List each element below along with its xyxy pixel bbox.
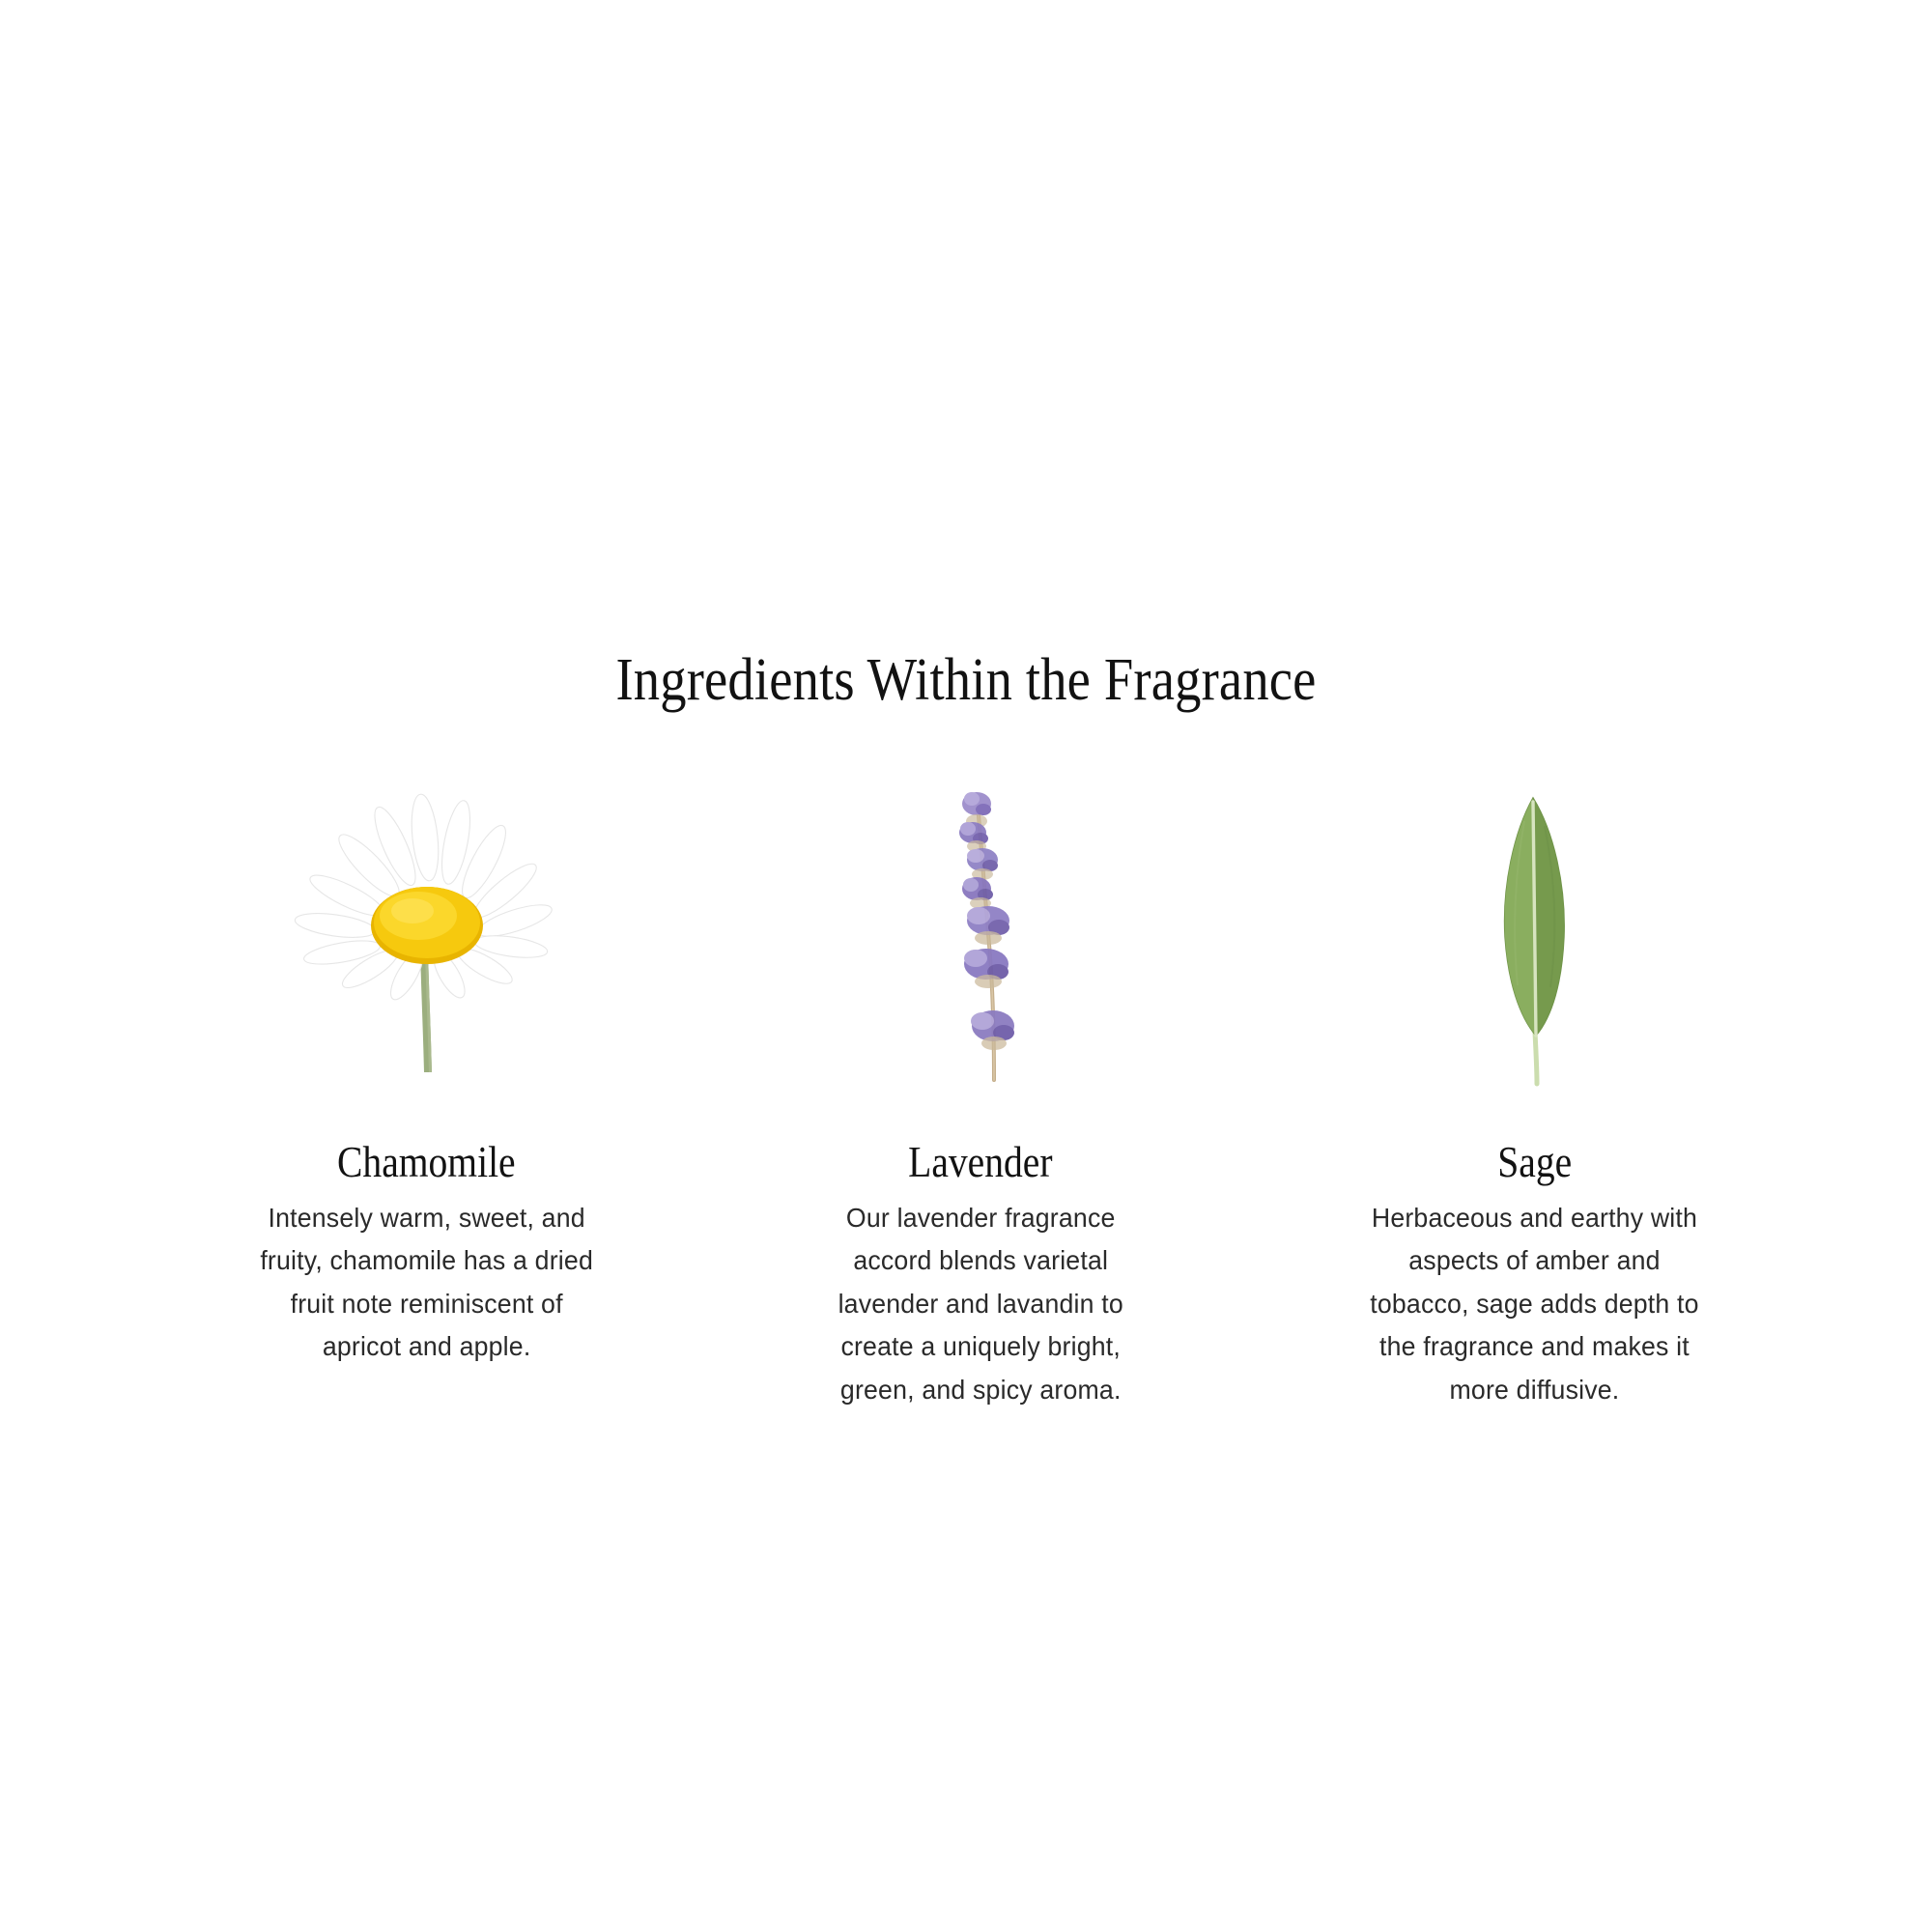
desc-line: fruit note reminiscent of — [260, 1283, 593, 1326]
desc-line: fruity, chamomile has a dried — [260, 1239, 593, 1283]
desc-line: create a uniquely bright, — [838, 1325, 1122, 1369]
ingredients-row: Chamomile Intensely warm, sweet, and fru… — [87, 782, 1845, 1411]
ingredient-card-chamomile: Chamomile Intensely warm, sweet, and fru… — [174, 782, 679, 1369]
ingredient-card-lavender: Lavender Our lavender fragrance accord b… — [727, 782, 1233, 1411]
sage-stem-group — [1535, 1032, 1537, 1084]
fragrance-ingredients-page: Ingredients Within the Fragrance — [0, 0, 1932, 1932]
ingredient-name-chamomile: Chamomile — [337, 1138, 516, 1187]
page-title: Ingredients Within the Fragrance — [116, 649, 1816, 712]
ingredient-description-chamomile: Intensely warm, sweet, and fruity, chamo… — [260, 1197, 593, 1369]
ingredient-description-sage: Herbaceous and earthy with aspects of am… — [1370, 1197, 1698, 1412]
sage-leaf-blade-group — [1505, 798, 1565, 1036]
chamomile-stem-group — [420, 949, 432, 1072]
desc-line: Herbaceous and earthy with — [1370, 1197, 1698, 1240]
desc-line: Intensely warm, sweet, and — [260, 1197, 593, 1240]
desc-line: more diffusive. — [1370, 1369, 1698, 1412]
desc-line: apricot and apple. — [260, 1325, 593, 1369]
ingredient-description-lavender: Our lavender fragrance accord blends var… — [838, 1197, 1122, 1412]
desc-line: green, and spicy aroma. — [838, 1369, 1122, 1412]
desc-line: tobacco, sage adds depth to — [1370, 1283, 1698, 1326]
sage-leaf-illustration — [1282, 782, 1787, 1101]
desc-line: lavender and lavandin to — [838, 1283, 1122, 1326]
lavender-florets-group — [959, 792, 1014, 1050]
ingredient-card-sage: Sage Herbaceous and earthy with aspects … — [1282, 782, 1787, 1411]
desc-line: accord blends varietal — [838, 1239, 1122, 1283]
chamomile-flower-illustration — [174, 782, 679, 1101]
desc-line: the fragrance and makes it — [1370, 1325, 1698, 1369]
lavender-sprig-illustration — [727, 782, 1233, 1101]
chamomile-center-group — [371, 887, 483, 964]
ingredient-name-lavender: Lavender — [908, 1138, 1052, 1187]
ingredient-name-sage: Sage — [1497, 1138, 1572, 1187]
desc-line: aspects of amber and — [1370, 1239, 1698, 1283]
desc-line: Our lavender fragrance — [838, 1197, 1122, 1240]
